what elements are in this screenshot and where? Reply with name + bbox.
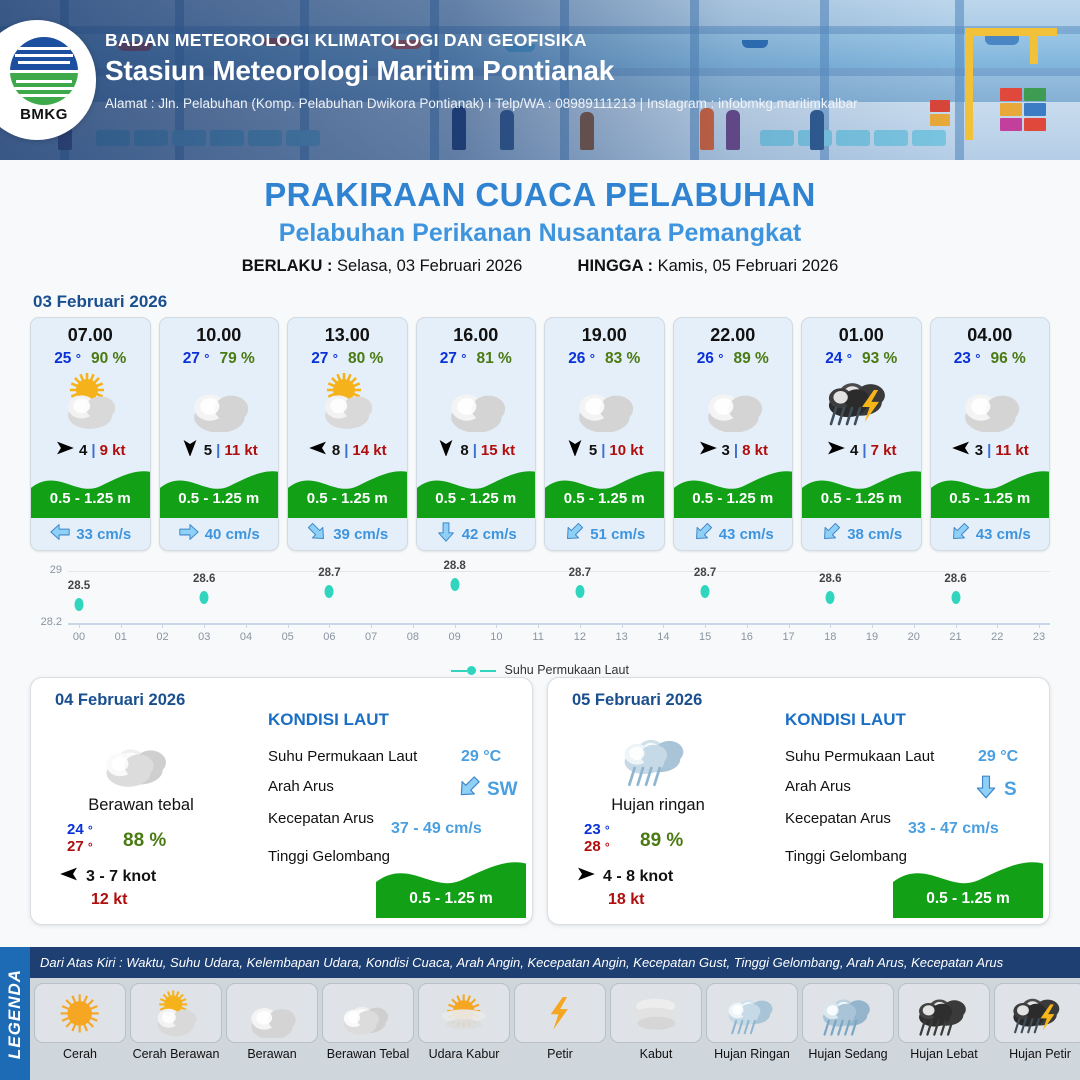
- panel-condition: Hujan ringan: [568, 796, 748, 815]
- legend-item-label: Berawan: [226, 1047, 318, 1061]
- legend-item: Kabut: [610, 983, 702, 1061]
- agency-name: BADAN METEOROLOGI KLIMATOLOGI DAN GEOFIS…: [105, 30, 858, 51]
- x-tick: [997, 623, 998, 628]
- legend-item-label: Hujan Lebat: [898, 1047, 990, 1061]
- x-tick-label: 13: [615, 631, 627, 643]
- wind-speed: 3: [975, 442, 983, 459]
- wave-height-value: 0.5 - 1.25 m: [31, 490, 150, 507]
- bmkg-logo-text: BMKG: [20, 106, 68, 123]
- legend-item: Cerah: [34, 983, 126, 1061]
- sst-point-label: 28.6: [819, 573, 841, 585]
- current-direction-arrow-icon: [949, 521, 971, 547]
- legend-item-label: Petir: [514, 1047, 606, 1061]
- forecast-card: 01.00 24 ° 93 % 4 | 7 kt 0.5 - 1.2: [801, 317, 922, 551]
- legend-item-label: Kabut: [610, 1047, 702, 1061]
- sea-row-label: Kecepatan Arus: [268, 810, 374, 827]
- panel-wind: 4 - 8 knot: [576, 866, 673, 887]
- wave-height-value: 0.5 - 1.25 m: [802, 490, 921, 507]
- legend-item-label: Hujan Sedang: [802, 1047, 894, 1061]
- forecast-card: 19.00 26 ° 83 % 5 | 10 kt 0.5 - 1.25 m: [544, 317, 665, 551]
- wave-height-value: 0.5 - 1.25 m: [288, 490, 407, 507]
- sst-data-point: [325, 585, 334, 598]
- valid-until-value: Kamis, 05 Februari 2026: [658, 257, 839, 275]
- wave-height-value: 0.5 - 1.25 m: [417, 490, 536, 507]
- weather-icon-hujan-ringan: [706, 983, 798, 1043]
- forecast-card: 04.00 23 ° 96 % 3 | 11 kt 0.5 - 1.25 m: [930, 317, 1051, 551]
- wind-direction-arrow-icon: [565, 440, 585, 461]
- wind-separator: |: [734, 442, 738, 459]
- current-direction-arrow-icon: [456, 774, 482, 805]
- card-wind: 4 | 9 kt: [31, 434, 150, 466]
- x-tick-label: 09: [449, 631, 461, 643]
- station-name: Stasiun Meteorologi Maritim Pontianak: [105, 55, 858, 87]
- sst-data-point: [200, 591, 209, 604]
- forecast-card: 07.00 25 ° 90 % 4 | 9 kt 0.5 - 1.25 m: [30, 317, 151, 551]
- sst-legend-dot-icon: [467, 666, 476, 675]
- sea-conditions-title: KONDISI LAUT: [268, 710, 389, 730]
- wind-separator: |: [216, 442, 220, 459]
- card-wind: 8 | 15 kt: [417, 434, 536, 466]
- weather-icon-petir: [514, 983, 606, 1043]
- panel-wave-height: 0.5 - 1.25 m: [893, 856, 1043, 918]
- weather-icon-hujan-ringan: [600, 722, 710, 794]
- x-tick: [329, 623, 330, 628]
- card-wave-height: 0.5 - 1.25 m: [417, 466, 536, 518]
- x-tick-label: 08: [407, 631, 419, 643]
- validity-range: BERLAKU : Selasa, 03 Februari 2026 HINGG…: [0, 257, 1080, 276]
- weather-icon-cerah-berawan: [31, 368, 150, 434]
- valid-from-value: Selasa, 03 Februari 2026: [337, 257, 522, 275]
- wind-direction-arrow-icon: [180, 440, 200, 461]
- legend-item: Berawan Tebal: [322, 983, 414, 1061]
- x-tick-label: 14: [657, 631, 669, 643]
- legend-item-label: Hujan Ringan: [706, 1047, 798, 1061]
- page-subtitle: Pelabuhan Perikanan Nusantara Pemangkat: [0, 219, 1080, 248]
- card-current: 42 cm/s: [417, 518, 536, 550]
- sea-row-label: Tinggi Gelombang: [785, 848, 907, 865]
- weather-icon-kabut: [610, 983, 702, 1043]
- x-tick-label: 03: [198, 631, 210, 643]
- chart-axis: [68, 623, 1050, 625]
- panel-temperatures: 24 ° 27 °: [67, 821, 93, 856]
- sst-data-point: [75, 598, 84, 611]
- legend-item: Hujan Petir: [994, 983, 1080, 1061]
- x-tick: [455, 623, 456, 628]
- daily-forecast-panel: 04 Februari 2026 Berawan tebal 24 ° 27 °…: [30, 677, 533, 925]
- x-tick-label: 15: [699, 631, 711, 643]
- panel-date: 04 Februari 2026: [55, 691, 185, 710]
- sea-row-label: Arah Arus: [785, 778, 851, 795]
- sst-data-point: [701, 585, 710, 598]
- weather-icon-udara-kabur: [418, 983, 510, 1043]
- card-time: 13.00: [288, 318, 407, 346]
- panel-gust: 18 kt: [608, 891, 644, 909]
- legend-item-label: Berawan Tebal: [322, 1047, 414, 1061]
- card-current: 51 cm/s: [545, 518, 664, 550]
- x-tick-label: 07: [365, 631, 377, 643]
- x-tick: [204, 623, 205, 628]
- wind-separator: |: [987, 442, 991, 459]
- daily-forecast-panel: 05 Februari 2026 Hujan ringan 23 ° 28 ° …: [547, 677, 1050, 925]
- wave-height-value: 0.5 - 1.25 m: [160, 490, 279, 507]
- sst-data-point: [826, 591, 835, 604]
- sst-point-label: 28.6: [193, 573, 215, 585]
- card-humidity: 96 %: [990, 350, 1025, 368]
- x-tick: [914, 623, 915, 628]
- weather-icon-berawan-tebal: [83, 722, 193, 794]
- panel-wind-range: 3 - 7 knot: [86, 868, 156, 886]
- current-speed: 40 cm/s: [205, 526, 260, 543]
- current-direction-arrow-icon: [563, 521, 585, 547]
- card-humidity: 93 %: [862, 350, 897, 368]
- card-wave-height: 0.5 - 1.25 m: [674, 466, 793, 518]
- card-temperature: 27 °: [311, 350, 338, 368]
- sea-row-label: Arah Arus: [268, 778, 334, 795]
- legend-item-label: Cerah Berawan: [130, 1047, 222, 1061]
- panel-wind-range: 4 - 8 knot: [603, 868, 673, 886]
- card-current: 38 cm/s: [802, 518, 921, 550]
- wind-speed: 5: [589, 442, 597, 459]
- legend-item-label: Hujan Petir: [994, 1047, 1080, 1061]
- current-direction-arrow-icon: [973, 774, 999, 805]
- card-temperature: 23 °: [954, 350, 981, 368]
- x-tick: [413, 623, 414, 628]
- wind-separator: |: [601, 442, 605, 459]
- legend-side-label: LEGENDA: [5, 968, 25, 1058]
- card-wind: 5 | 11 kt: [160, 434, 279, 466]
- card-temperature: 27 °: [183, 350, 210, 368]
- card-time: 10.00: [160, 318, 279, 346]
- x-tick-label: 00: [73, 631, 85, 643]
- wind-speed: 8: [460, 442, 468, 459]
- card-wind: 4 | 7 kt: [802, 434, 921, 466]
- wind-direction-arrow-icon: [55, 440, 75, 461]
- legend-side-tab: LEGENDA: [0, 947, 30, 1080]
- wind-speed: 3: [722, 442, 730, 459]
- card-current: 43 cm/s: [674, 518, 793, 550]
- sst-point-label: 28.7: [569, 567, 591, 579]
- page-header: BMKG BADAN METEOROLOGI KLIMATOLOGI DAN G…: [0, 0, 1080, 160]
- legend-footer: LEGENDA Dari Atas Kiri : Waktu, Suhu Uda…: [0, 947, 1080, 1080]
- wind-direction-arrow-icon: [308, 440, 328, 461]
- weather-icon-berawan: [226, 983, 318, 1043]
- panel-wave-height: 0.5 - 1.25 m: [376, 856, 526, 918]
- x-tick: [288, 623, 289, 628]
- wind-separator: |: [862, 442, 866, 459]
- card-wave-height: 0.5 - 1.25 m: [31, 466, 150, 518]
- x-tick-label: 01: [115, 631, 127, 643]
- card-humidity: 80 %: [348, 350, 383, 368]
- sea-surface-temp-value: 29 °C: [461, 748, 501, 766]
- wind-gust: 10 kt: [609, 442, 643, 459]
- wind-gust: 11 kt: [995, 442, 1028, 459]
- hourly-forecast-row: 07.00 25 ° 90 % 4 | 9 kt 0.5 - 1.25 m: [0, 317, 1080, 551]
- card-wind: 3 | 11 kt: [931, 434, 1050, 466]
- x-tick: [580, 623, 581, 628]
- page-title: PRAKIRAAN CUACA PELABUHAN: [0, 176, 1080, 214]
- current-speed: 33 cm/s: [76, 526, 131, 543]
- x-tick-label: 02: [156, 631, 168, 643]
- card-temperature: 24 °: [825, 350, 852, 368]
- x-tick-label: 19: [866, 631, 878, 643]
- weather-icon-berawan: [160, 368, 279, 434]
- weather-icon-berawan: [545, 368, 664, 434]
- x-tick-label: 23: [1033, 631, 1045, 643]
- wind-gust: 15 kt: [481, 442, 515, 459]
- x-tick: [872, 623, 873, 628]
- x-tick: [956, 623, 957, 628]
- card-wave-height: 0.5 - 1.25 m: [545, 466, 664, 518]
- x-tick-label: 11: [532, 631, 543, 643]
- weather-icon-berawan: [931, 368, 1050, 434]
- legend-item-label: Udara Kabur: [418, 1047, 510, 1061]
- wave-height-value: 0.5 - 1.25 m: [893, 890, 1043, 908]
- card-humidity: 81 %: [476, 350, 511, 368]
- current-direction-arrow-icon: [306, 521, 328, 547]
- card-wind: 3 | 8 kt: [674, 434, 793, 466]
- legend-item: Hujan Sedang: [802, 983, 894, 1061]
- weather-icon-berawan: [674, 368, 793, 434]
- weather-icon-hujan-petir: [994, 983, 1080, 1043]
- current-speed: 51 cm/s: [590, 526, 645, 543]
- card-wind: 5 | 10 kt: [545, 434, 664, 466]
- x-tick: [663, 623, 664, 628]
- sst-point-label: 28.7: [694, 567, 716, 579]
- current-speed: 43 cm/s: [976, 526, 1031, 543]
- x-tick: [162, 623, 163, 628]
- header-titles: BADAN METEOROLOGI KLIMATOLOGI DAN GEOFIS…: [105, 30, 858, 111]
- title-section: PRAKIRAAN CUACA PELABUHAN Pelabuhan Peri…: [0, 160, 1080, 276]
- wave-height-value: 0.5 - 1.25 m: [674, 490, 793, 507]
- card-temperature: 25 °: [54, 350, 81, 368]
- wind-separator: |: [344, 442, 348, 459]
- legend-item-label: Cerah: [34, 1047, 126, 1061]
- x-tick: [705, 623, 706, 628]
- current-speed: 43 cm/s: [719, 526, 774, 543]
- card-wave-height: 0.5 - 1.25 m: [288, 466, 407, 518]
- sst-point-label: 28.8: [443, 560, 465, 572]
- weather-icon-cerah-berawan: [130, 983, 222, 1043]
- x-tick: [371, 623, 372, 628]
- weather-icon-berawan-tebal: [322, 983, 414, 1043]
- card-temperature: 27 °: [440, 350, 467, 368]
- card-current: 40 cm/s: [160, 518, 279, 550]
- x-tick: [79, 623, 80, 628]
- card-humidity: 89 %: [733, 350, 768, 368]
- current-speed-value: 33 - 47 cm/s: [908, 820, 999, 838]
- x-tick-label: 17: [782, 631, 794, 643]
- wave-height-value: 0.5 - 1.25 m: [931, 490, 1050, 507]
- x-tick-label: 22: [991, 631, 1003, 643]
- chart-legend-label: Suhu Permukaan Laut: [505, 663, 629, 677]
- weather-icon-cerah: [34, 983, 126, 1043]
- wind-direction-arrow-icon: [436, 440, 456, 461]
- card-time: 16.00: [417, 318, 536, 346]
- x-tick-label: 04: [240, 631, 252, 643]
- sea-surface-temp-value: 29 °C: [978, 748, 1018, 766]
- current-direction-arrow-icon: [49, 521, 71, 547]
- card-humidity: 83 %: [605, 350, 640, 368]
- panel-humidity: 88 %: [123, 830, 166, 852]
- current-direction-arrow-icon: [820, 521, 842, 547]
- wind-direction-arrow-icon: [826, 440, 846, 461]
- chart-gridline: [68, 571, 1050, 572]
- y-tick-label: 29: [30, 564, 62, 576]
- current-speed-value: 37 - 49 cm/s: [391, 820, 482, 838]
- current-direction-group: SW: [456, 774, 518, 805]
- wind-direction-arrow-icon: [576, 866, 596, 887]
- legend-item: Hujan Lebat: [898, 983, 990, 1061]
- x-tick: [830, 623, 831, 628]
- wind-direction-arrow-icon: [951, 440, 971, 461]
- card-current: 33 cm/s: [31, 518, 150, 550]
- x-tick: [1039, 623, 1040, 628]
- wind-direction-arrow-icon: [59, 866, 79, 887]
- current-speed: 42 cm/s: [462, 526, 517, 543]
- legend-item: Hujan Ringan: [706, 983, 798, 1061]
- wind-speed: 4: [79, 442, 87, 459]
- x-tick: [246, 623, 247, 628]
- sea-row-label: Suhu Permukaan Laut: [785, 748, 934, 765]
- sea-row-label: Kecepatan Arus: [785, 810, 891, 827]
- sst-data-point: [575, 585, 584, 598]
- x-tick: [496, 623, 497, 628]
- card-wind: 8 | 14 kt: [288, 434, 407, 466]
- x-tick-label: 06: [323, 631, 335, 643]
- sst-data-point: [951, 591, 960, 604]
- legend-item: Cerah Berawan: [130, 983, 222, 1061]
- wind-gust: 9 kt: [100, 442, 126, 459]
- panel-date: 05 Februari 2026: [572, 691, 702, 710]
- valid-until-label: HINGGA :: [578, 257, 653, 275]
- current-direction-arrow-icon: [178, 521, 200, 547]
- current-direction-arrow-icon: [692, 521, 714, 547]
- weather-icon-hujan-lebat: [898, 983, 990, 1043]
- sst-chart: 2928.20001020304050607080910111213141516…: [30, 561, 1050, 671]
- x-tick: [121, 623, 122, 628]
- wind-gust: 14 kt: [352, 442, 386, 459]
- x-tick: [622, 623, 623, 628]
- sea-row-label: Tinggi Gelombang: [268, 848, 390, 865]
- y-tick-label: 28.2: [30, 616, 62, 628]
- wind-gust: 11 kt: [224, 442, 257, 459]
- card-humidity: 79 %: [219, 350, 254, 368]
- panel-condition: Berawan tebal: [51, 796, 231, 815]
- valid-from-label: BERLAKU :: [242, 257, 333, 275]
- wind-speed: 5: [204, 442, 212, 459]
- chart-legend: Suhu Permukaan Laut: [30, 663, 1050, 677]
- current-direction-value: SW: [487, 779, 518, 801]
- current-direction-arrow-icon: [435, 521, 457, 547]
- x-tick-label: 16: [741, 631, 753, 643]
- sea-row-label: Suhu Permukaan Laut: [268, 748, 417, 765]
- forecast-card: 10.00 27 ° 79 % 5 | 11 kt 0.5 - 1.25 m: [159, 317, 280, 551]
- wind-separator: |: [473, 442, 477, 459]
- card-current: 43 cm/s: [931, 518, 1050, 550]
- weather-icon-hujan-petir: [802, 368, 921, 434]
- card-current: 39 cm/s: [288, 518, 407, 550]
- forecast-card: 16.00 27 ° 81 % 8 | 15 kt 0.5 - 1.25 m: [416, 317, 537, 551]
- x-tick-label: 12: [574, 631, 586, 643]
- forecast-card: 22.00 26 ° 89 % 3 | 8 kt 0.5 - 1.25 m: [673, 317, 794, 551]
- wave-height-value: 0.5 - 1.25 m: [376, 890, 526, 908]
- current-direction-group: S: [973, 774, 1017, 805]
- x-tick-label: 10: [490, 631, 502, 643]
- wind-separator: |: [91, 442, 95, 459]
- panel-temperatures: 23 ° 28 °: [584, 821, 610, 856]
- current-speed: 38 cm/s: [847, 526, 902, 543]
- sst-point-label: 28.7: [318, 567, 340, 579]
- weather-icon-berawan: [417, 368, 536, 434]
- sea-conditions-title: KONDISI LAUT: [785, 710, 906, 730]
- card-time: 04.00: [931, 318, 1050, 346]
- sst-data-point: [450, 578, 459, 591]
- x-tick: [747, 623, 748, 628]
- x-tick: [538, 623, 539, 628]
- card-time: 22.00: [674, 318, 793, 346]
- forecast-card: 13.00 27 ° 80 % 8 | 14 kt 0.5 - 1.25 m: [287, 317, 408, 551]
- bmkg-emblem-icon: [10, 37, 78, 105]
- current-direction-value: S: [1004, 779, 1017, 801]
- legend-item: Berawan: [226, 983, 318, 1061]
- wind-gust: 8 kt: [742, 442, 768, 459]
- card-time: 19.00: [545, 318, 664, 346]
- card-temperature: 26 °: [568, 350, 595, 368]
- card-wave-height: 0.5 - 1.25 m: [802, 466, 921, 518]
- wind-direction-arrow-icon: [698, 440, 718, 461]
- panel-gust: 12 kt: [91, 891, 127, 909]
- current-speed: 39 cm/s: [333, 526, 388, 543]
- card-wave-height: 0.5 - 1.25 m: [931, 466, 1050, 518]
- wind-gust: 7 kt: [871, 442, 897, 459]
- legend-item: Udara Kabur: [418, 983, 510, 1061]
- panel-wind: 3 - 7 knot: [59, 866, 156, 887]
- card-time: 01.00: [802, 318, 921, 346]
- x-tick-label: 05: [282, 631, 294, 643]
- x-tick-label: 21: [949, 631, 961, 643]
- wave-height-value: 0.5 - 1.25 m: [545, 490, 664, 507]
- legend-note: Dari Atas Kiri : Waktu, Suhu Udara, Kele…: [30, 947, 1080, 978]
- weather-icon-cerah-berawan: [288, 368, 407, 434]
- legend-icon-list: Cerah Cerah Berawan Berawan Berawan Teba…: [34, 983, 1080, 1061]
- wind-speed: 8: [332, 442, 340, 459]
- forecast-day-label: 03 Februari 2026: [33, 292, 1080, 312]
- sst-point-label: 28.5: [68, 580, 90, 592]
- x-tick-label: 18: [824, 631, 836, 643]
- sst-point-label: 28.6: [944, 573, 966, 585]
- x-tick-label: 20: [908, 631, 920, 643]
- weather-icon-hujan-sedang: [802, 983, 894, 1043]
- legend-item: Petir: [514, 983, 606, 1061]
- panel-humidity: 89 %: [640, 830, 683, 852]
- wind-speed: 4: [850, 442, 858, 459]
- card-wave-height: 0.5 - 1.25 m: [160, 466, 279, 518]
- daily-forecast-panels: 04 Februari 2026 Berawan tebal 24 ° 27 °…: [0, 677, 1080, 925]
- card-temperature: 26 °: [697, 350, 724, 368]
- station-address: Alamat : Jln. Pelabuhan (Komp. Pelabuhan…: [105, 96, 858, 111]
- x-tick: [789, 623, 790, 628]
- card-time: 07.00: [31, 318, 150, 346]
- card-humidity: 90 %: [91, 350, 126, 368]
